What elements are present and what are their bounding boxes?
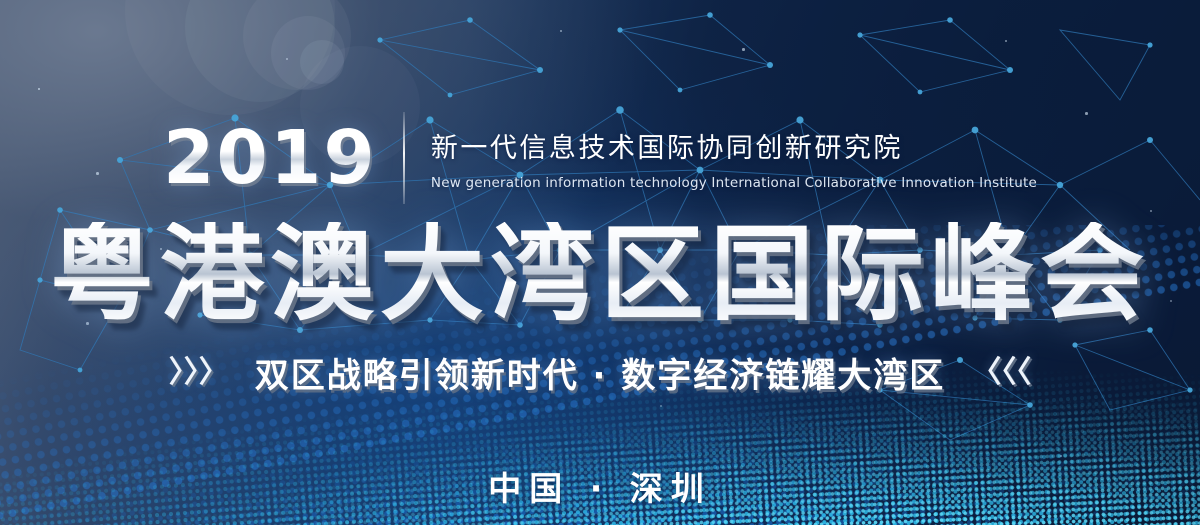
location-label: 中国 · 深圳: [0, 462, 1200, 510]
year-label: 2019: [163, 124, 377, 192]
institute-name-cn: 新一代信息技术国际协同创新研究院: [431, 126, 1037, 165]
chevron-right-icon: 〉〉〉: [169, 358, 229, 388]
subtitle-text: 双区战略引领新时代 · 数字经济链耀大湾区: [255, 348, 946, 397]
header-divider: [403, 112, 405, 204]
main-title: 粤港澳大湾区国际峰会: [0, 222, 1200, 326]
subtitle-row: 〉〉〉 双区战略引领新时代 · 数字经济链耀大湾区 〈〈〈: [0, 348, 1200, 397]
chevron-left-icon: 〈〈〈: [971, 358, 1031, 388]
banner-content: 2019 新一代信息技术国际协同创新研究院 New generation inf…: [0, 0, 1200, 525]
header-row: 2019 新一代信息技术国际协同创新研究院 New generation inf…: [0, 112, 1200, 204]
institute-name-en: New generation information technology In…: [431, 175, 1037, 191]
header-text-group: 新一代信息技术国际协同创新研究院 New generation informat…: [431, 126, 1037, 191]
event-banner: 2019 新一代信息技术国际协同创新研究院 New generation inf…: [0, 0, 1200, 525]
